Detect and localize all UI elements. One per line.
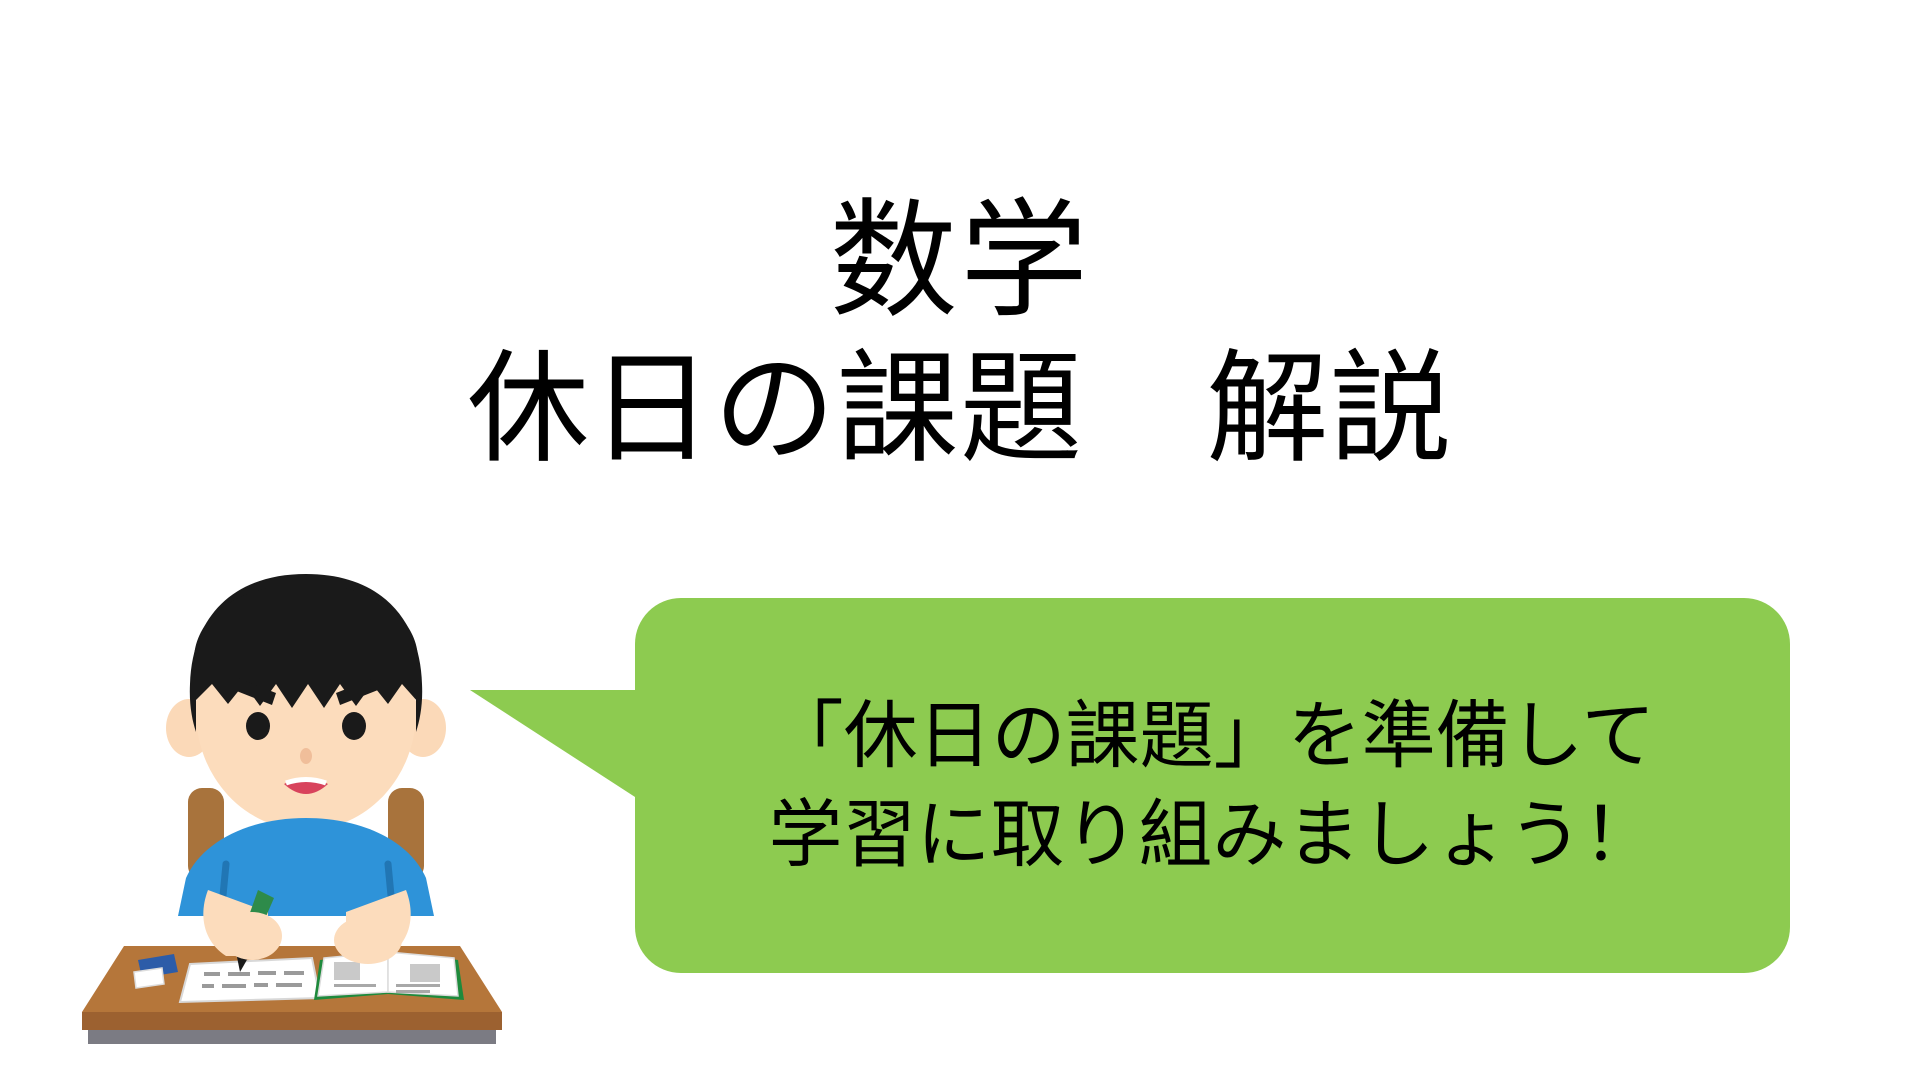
page-subtitle: 休日の課題 解説 bbox=[0, 339, 1920, 479]
speech-bubble: 「休日の課題」を準備して 学習に取り組みましょう！ bbox=[470, 598, 1790, 973]
speech-bubble-text: 「休日の課題」を準備して 学習に取り組みましょう！ bbox=[769, 687, 1657, 884]
page-title: 数学 bbox=[0, 190, 1920, 333]
boy-studying-illustration bbox=[62, 560, 542, 1060]
slide-canvas: 数学 休日の課題 解説 「休日の課題」を準備して 学習に取り組みましょう！ bbox=[0, 0, 1920, 1080]
worksheet-paper bbox=[180, 958, 320, 1002]
speech-bubble-body: 「休日の課題」を準備して 学習に取り組みましょう！ bbox=[635, 598, 1790, 973]
open-textbook bbox=[314, 952, 464, 1000]
title-block: 数学 休日の課題 解説 bbox=[0, 190, 1920, 480]
